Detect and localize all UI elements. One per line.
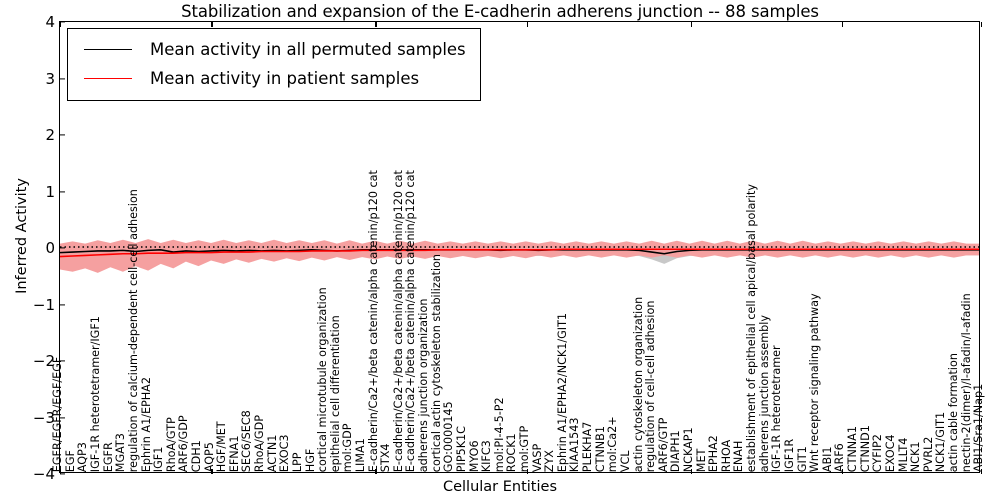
x-tick-mark [60, 469, 61, 474]
y-tick-label: −3 [0, 409, 55, 427]
x-tick-mark-top [211, 22, 212, 27]
x-tick-mark-top [842, 22, 843, 27]
y-tick-label: −1 [0, 296, 55, 314]
x-tick-mark-top [981, 22, 982, 27]
plot-axes: −4−3−2−101234 Mean activity in all permu… [59, 21, 980, 473]
x-tick-mark-top [60, 22, 61, 27]
y-tick-label: 0 [0, 239, 55, 257]
legend-item: Mean activity in patient samples [78, 64, 466, 93]
x-tick-mark-top [527, 22, 528, 27]
legend-item: Mean activity in all permuted samples [78, 35, 466, 64]
legend-label-patient: Mean activity in patient samples [150, 69, 419, 88]
y-tick-label: 1 [0, 183, 55, 201]
y-tick-label: 4 [0, 13, 55, 31]
y-tick-mark [60, 247, 65, 248]
chart-legend: Mean activity in all permuted samples Me… [67, 28, 481, 101]
x-tick-mark-top [375, 22, 376, 27]
x-tick-mark [527, 469, 528, 474]
y-tick-mark [60, 78, 65, 79]
y-tick-label: 3 [0, 70, 55, 88]
chart-title: Stabilization and expansion of the E-cad… [0, 2, 1000, 21]
legend-swatch-permuted [84, 49, 132, 50]
legend-swatch-patient [84, 78, 132, 79]
x-tick-mark [691, 469, 692, 474]
y-tick-mark [60, 134, 65, 135]
y-tick-mark [60, 191, 65, 192]
x-axis-label: Cellular Entities [0, 479, 1000, 495]
x-tick-mark-top [691, 22, 692, 27]
x-tick-mark [981, 469, 982, 474]
y-tick-label: 2 [0, 126, 55, 144]
figure-canvas: Stabilization and expansion of the E-cad… [0, 0, 1000, 500]
x-tick-mark [211, 469, 212, 474]
y-tick-mark [60, 417, 65, 418]
y-tick-mark [60, 360, 65, 361]
legend-label-permuted: Mean activity in all permuted samples [150, 40, 466, 59]
y-tick-label: −2 [0, 352, 55, 370]
y-tick-mark [60, 304, 65, 305]
confidence-band [60, 239, 979, 273]
x-tick-mark [375, 469, 376, 474]
x-tick-mark [842, 469, 843, 474]
